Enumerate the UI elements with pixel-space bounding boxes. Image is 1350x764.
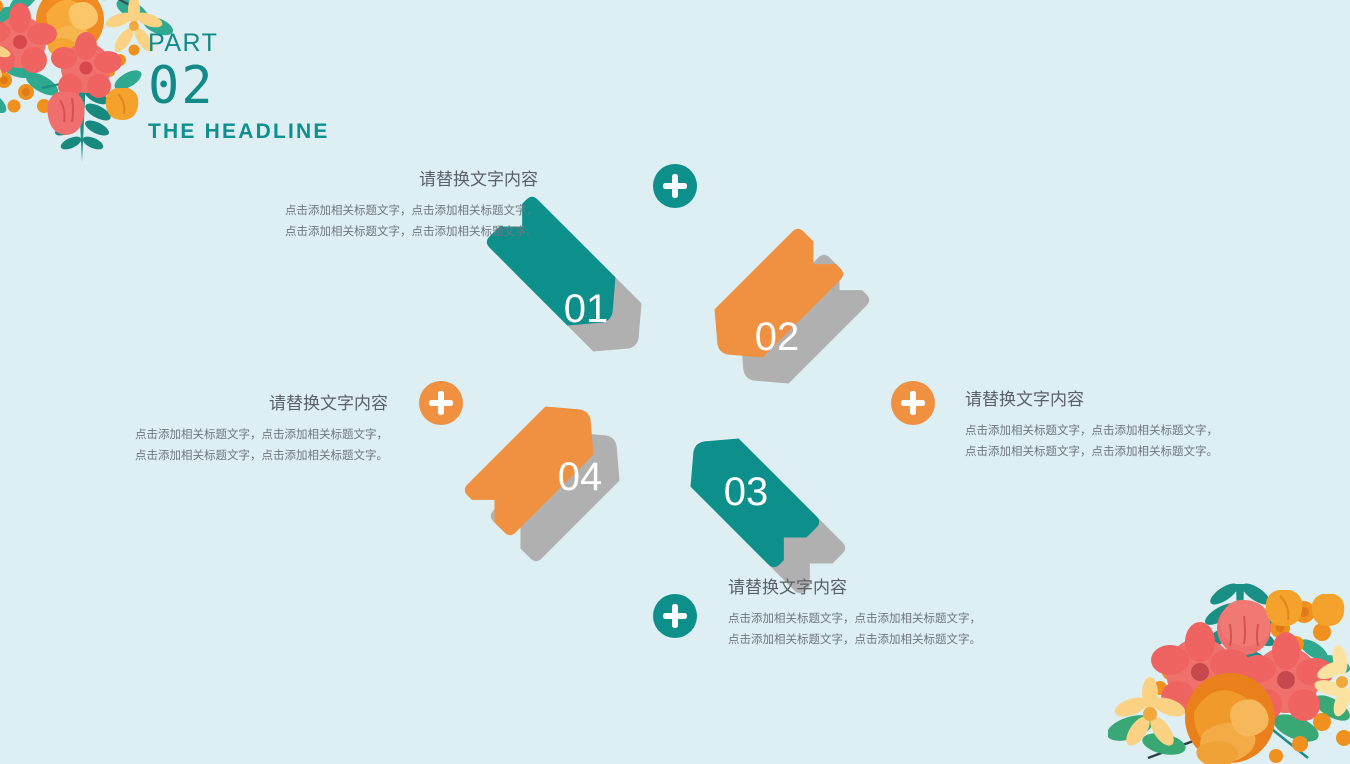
- cycle-arrow-02-number: 02: [755, 315, 800, 359]
- content-block-04-title: 请替换文字内容: [128, 392, 388, 416]
- plus-badge-03[interactable]: [653, 594, 697, 638]
- content-block-03: 请替换文字内容 点击添加相关标题文字，点击添加相关标题文字，点击添加相关标题文字…: [728, 576, 988, 651]
- plus-badge-02[interactable]: [891, 381, 935, 425]
- content-block-03-title: 请替换文字内容: [728, 576, 988, 600]
- floral-decoration-bottom-right: [1108, 532, 1350, 764]
- cycle-arrow-03-number: 03: [724, 470, 769, 514]
- slide-canvas: PART 02 THE HEADLINE 01: [0, 0, 1350, 759]
- content-block-02-body: 点击添加相关标题文字，点击添加相关标题文字，点击添加相关标题文字，点击添加相关标…: [965, 421, 1225, 463]
- content-block-01-title: 请替换文字内容: [278, 168, 538, 192]
- cycle-arrow-04-number: 04: [558, 455, 603, 499]
- plus-icon: [438, 391, 445, 415]
- content-block-04-body: 点击添加相关标题文字，点击添加相关标题文字，点击添加相关标题文字，点击添加相关标…: [128, 425, 388, 467]
- plus-badge-04[interactable]: [419, 381, 463, 425]
- slide-header: PART 02 THE HEADLINE: [148, 28, 330, 144]
- content-block-02-title: 请替换文字内容: [965, 388, 1225, 412]
- cycle-arrow-01-number: 01: [564, 287, 609, 331]
- plus-icon: [672, 174, 679, 198]
- headline-title: THE HEADLINE: [148, 120, 330, 144]
- cycle-diagram: 01 02 03 04: [482, 200, 882, 590]
- content-block-01: 请替换文字内容 点击添加相关标题文字，点击添加相关标题文字，点击添加相关标题文字…: [278, 168, 538, 243]
- plus-icon: [910, 391, 917, 415]
- content-block-04: 请替换文字内容 点击添加相关标题文字，点击添加相关标题文字，点击添加相关标题文字…: [128, 392, 388, 467]
- part-label: PART: [148, 28, 330, 58]
- content-block-01-body: 点击添加相关标题文字，点击添加相关标题文字，点击添加相关标题文字，点击添加相关标…: [278, 201, 538, 243]
- content-block-03-body: 点击添加相关标题文字，点击添加相关标题文字，点击添加相关标题文字，点击添加相关标…: [728, 609, 988, 651]
- plus-icon: [672, 604, 679, 628]
- content-block-02: 请替换文字内容 点击添加相关标题文字，点击添加相关标题文字，点击添加相关标题文字…: [965, 388, 1225, 463]
- part-number: 02: [148, 58, 330, 114]
- plus-badge-01[interactable]: [653, 164, 697, 208]
